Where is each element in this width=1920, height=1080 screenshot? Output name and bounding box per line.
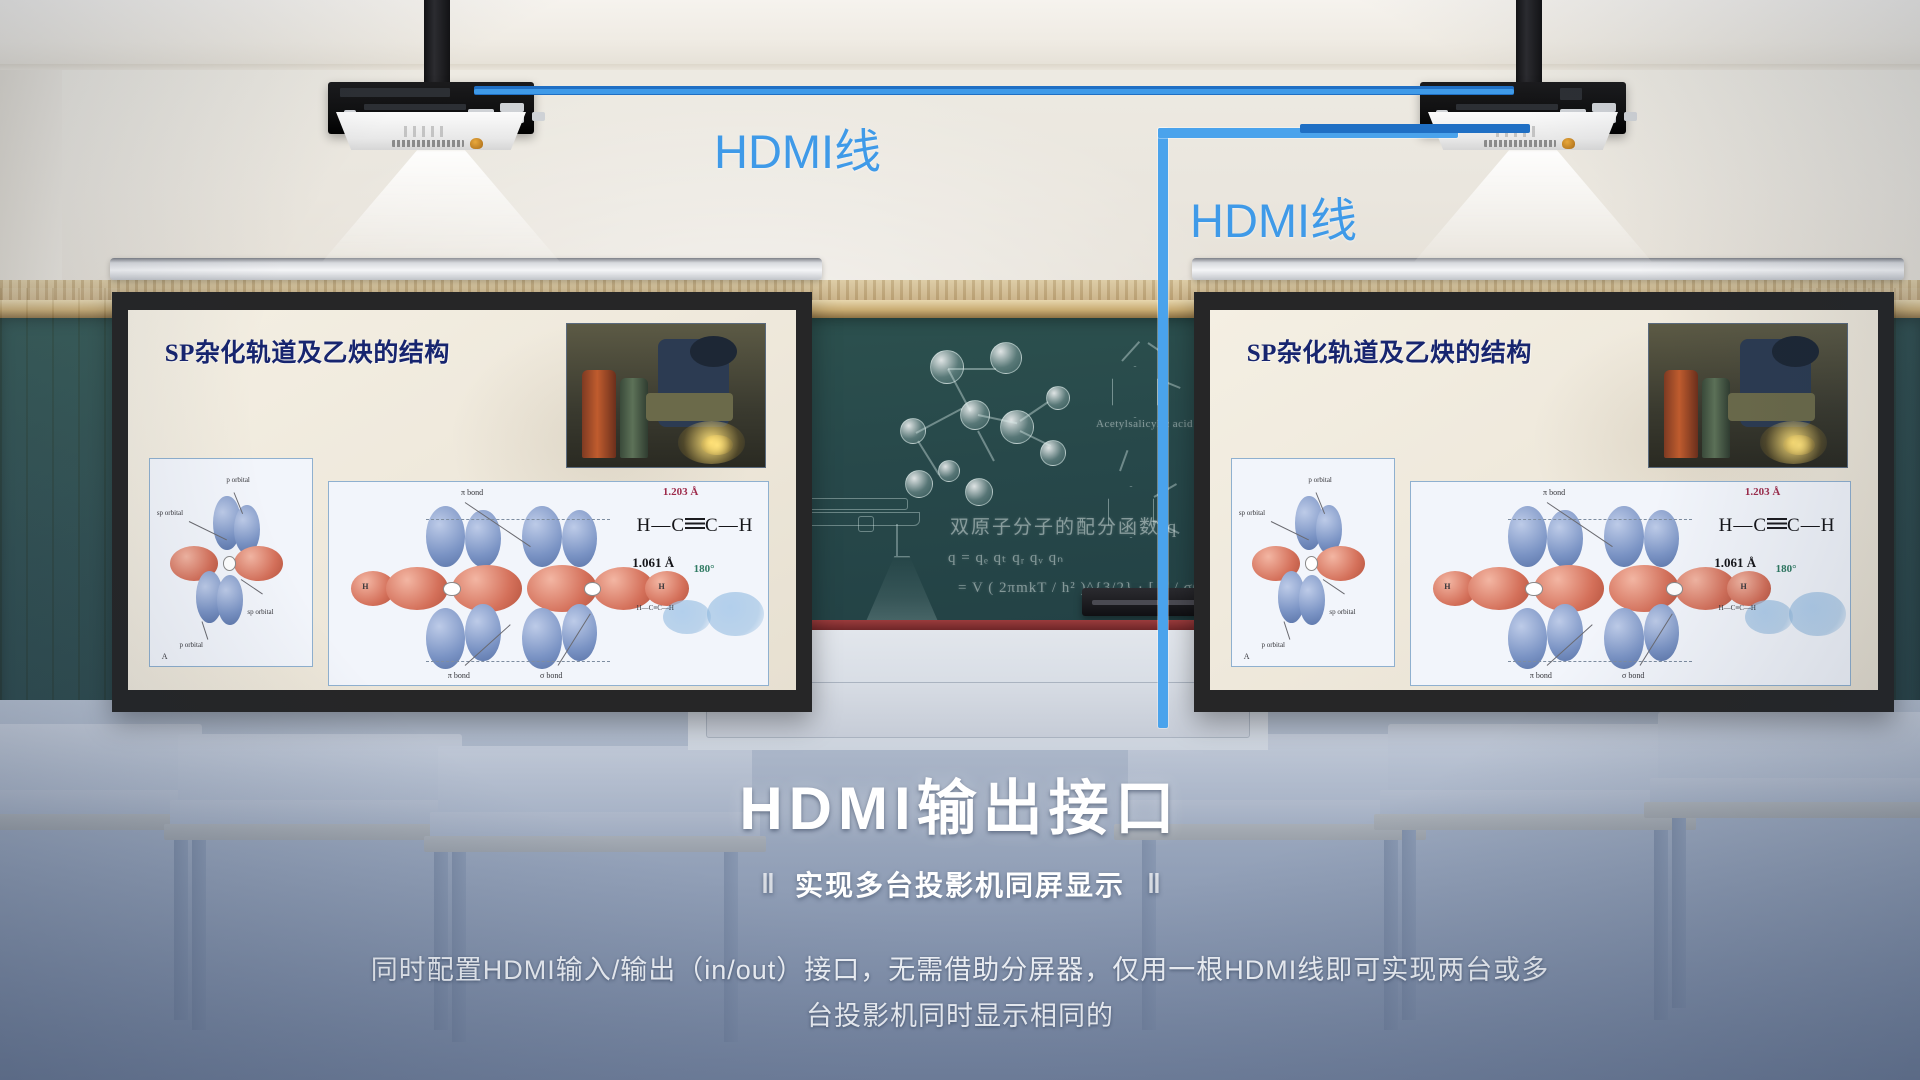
blackboard-caption: 双原子分子的配分函数 q: [950, 512, 1178, 539]
projection-screen-right: SP杂化轨道及乙炔的结构 p orbital sp: [1194, 292, 1894, 712]
formula-h-left: H: [637, 515, 652, 536]
hdmi-cable-label-left: HDMI线: [714, 113, 881, 182]
label-p-orbital-2: p orbital: [1261, 641, 1285, 649]
formula-c-left: C: [1753, 515, 1767, 536]
acetylene-diagram-box-left: π bond π bond σ bond H H 1.203 Å H—CC—H …: [328, 481, 769, 686]
label-sp-orbital-2: sp orbital: [247, 608, 273, 616]
formula-dash-2: —: [719, 515, 739, 536]
divider-bars-left: ‖: [761, 868, 773, 900]
bond-angle-left: 180°: [694, 563, 715, 575]
blackboard-chem-label: Acetylsalicylic acid: [1096, 418, 1193, 430]
label-figure-mark: A: [162, 652, 168, 661]
projector-logo-right: [1562, 138, 1575, 149]
divider-bars-right: ‖: [1147, 868, 1159, 900]
label-atom-h-left: H: [1444, 582, 1450, 591]
label-sp-orbital-2: sp orbital: [1329, 608, 1355, 616]
page-headline: HDMI输出接口: [0, 760, 1920, 847]
formula-c-right: C: [1787, 515, 1801, 536]
subheadline-text: 实现多台投影机同屏显示: [795, 864, 1125, 904]
slide-left: SP杂化轨道及乙炔的结构 p orbit: [128, 310, 796, 690]
formula-dash-1: —: [651, 515, 671, 536]
hdmi-cable-vertical-drop: [1158, 128, 1168, 728]
label-p-orbital-1: p orbital: [1308, 476, 1332, 484]
projector-mount-pole-left: [424, 0, 450, 84]
triple-bond-glyph: [685, 518, 705, 529]
projection-screen-left: SP杂化轨道及乙炔的结构 p orbit: [112, 292, 812, 712]
bond-angle-right: 180°: [1776, 563, 1797, 575]
welding-photo-left: [566, 323, 766, 467]
bond-length-red-right: 1.203 Å: [1745, 486, 1780, 498]
page-subheadline: ‖ 实现多台投影机同屏显示 ‖: [0, 864, 1920, 904]
slide-title-left: SP杂化轨道及乙炔的结构: [165, 333, 450, 369]
formula-h-right: H: [739, 515, 754, 536]
acetylene-formula-right: H—CC—H: [1719, 515, 1836, 537]
label-pi-bond-top: π bond: [461, 488, 483, 497]
bond-length-red-left: 1.203 Å: [663, 486, 698, 498]
ceiling: [0, 0, 1920, 70]
label-sigma-bond: σ bond: [1622, 671, 1644, 680]
projector-mount-pole-right: [1516, 0, 1542, 84]
hdmi-cable-into-right-projector: [1300, 124, 1530, 133]
label-atom-h-right: H: [1741, 582, 1747, 591]
formula-c-right: C: [705, 515, 719, 536]
projector-brand-left: [392, 140, 464, 147]
mini-formula-left: H—C≡C—H: [637, 604, 674, 612]
triple-bond-glyph: [1767, 518, 1787, 529]
orbital-diagram-box-left: p orbital sp orbital sp orbital p orbita…: [149, 458, 313, 667]
hdmi-cable-horizontal-top-highlight: [474, 89, 1514, 94]
side-wall-left: [0, 70, 62, 300]
label-atom-h-left: H: [362, 582, 368, 591]
formula-h-right: H: [1821, 515, 1836, 536]
acetylene-formula-left: H—CC—H: [637, 515, 754, 537]
body-paragraph-line-2: 台投影机同时显示相同的: [0, 994, 1920, 1033]
bond-length-black-left: 1.061 Å: [632, 555, 674, 571]
label-sp-orbital-1: sp orbital: [157, 509, 183, 517]
formula-dash-2: —: [1801, 515, 1821, 536]
slide-right: SP杂化轨道及乙炔的结构 p orbital sp: [1210, 310, 1878, 690]
scene-root: Acetylsalicylic acid 双原子分子的配分函数 q q = qₑ…: [0, 0, 1920, 1080]
projector-logo-left: [470, 138, 483, 149]
label-p-orbital-2: p orbital: [179, 641, 203, 649]
wood-panel-left: [0, 288, 120, 718]
blackboard-equation-1: q = qₑ qₜ qᵣ qᵥ qₙ: [948, 548, 1064, 567]
label-pi-bond-top: π bond: [1543, 488, 1565, 497]
body-paragraph-line-1: 同时配置HDMI输入/输出（in/out）接口，无需借助分屏器，仅用一根HDMI…: [0, 948, 1920, 987]
label-sp-orbital-1: sp orbital: [1239, 509, 1265, 517]
label-atom-h-right: H: [659, 582, 665, 591]
formula-h-left: H: [1719, 515, 1734, 536]
hdmi-cable-label-right: HDMI线: [1190, 182, 1357, 251]
label-pi-bond-bottom: π bond: [1530, 671, 1552, 680]
label-sigma-bond: σ bond: [540, 671, 562, 680]
label-pi-bond-bottom: π bond: [448, 671, 470, 680]
label-figure-mark: A: [1244, 652, 1250, 661]
orbital-diagram-box-right: p orbital sp orbital sp orbital p orbita…: [1231, 458, 1395, 667]
mini-formula-right: H—C≡C—H: [1719, 604, 1756, 612]
slide-title-right: SP杂化轨道及乙炔的结构: [1247, 333, 1532, 369]
projector-brand-right: [1484, 140, 1556, 147]
label-p-orbital-1: p orbital: [226, 476, 250, 484]
formula-c-left: C: [671, 515, 685, 536]
acetylene-diagram-box-right: π bond π bond σ bond H H 1.203 Å H—CC—H …: [1410, 481, 1851, 686]
bond-length-black-right: 1.061 Å: [1714, 555, 1756, 571]
formula-dash-1: —: [1733, 515, 1753, 536]
welding-photo-right: [1648, 323, 1848, 467]
